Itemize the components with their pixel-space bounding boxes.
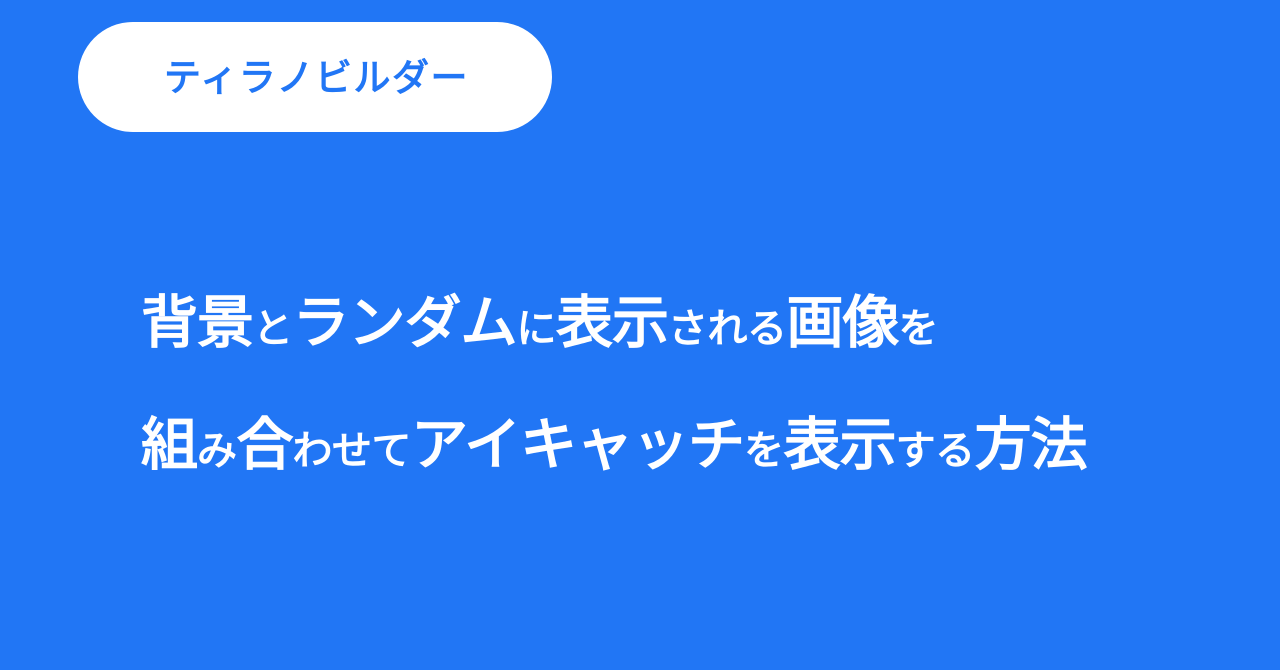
headline-segment: に (517, 306, 557, 352)
headline-segment: 表示 (556, 290, 668, 356)
headline-line-1: 背景とランダムに表示される画像を (141, 262, 1201, 384)
headline-segment: と (253, 306, 293, 352)
eyecatch-canvas: ティラノビルダー 背景とランダムに表示される画像を 組み合わせてアイキャッチを表… (0, 0, 1280, 670)
category-badge: ティラノビルダー (78, 22, 552, 132)
headline-line-2: 組み合わせてアイキャッチを表示する方法 (141, 384, 1201, 506)
headline-segment: される (668, 306, 787, 352)
category-badge-label: ティラノビルダー (164, 58, 469, 96)
headline: 背景とランダムに表示される画像を 組み合わせてアイキャッチを表示する方法 (141, 262, 1201, 506)
headline-segment: アイキャッチ (411, 412, 744, 478)
headline-segment: 表示 (784, 412, 896, 478)
headline-segment: ランダム (293, 290, 517, 356)
headline-segment: を (899, 306, 939, 352)
headline-segment: する (896, 428, 975, 474)
headline-segment: わせて (293, 428, 412, 474)
headline-segment: 背景 (141, 290, 253, 356)
headline-segment: を (744, 428, 784, 474)
headline-segment: み (197, 428, 237, 474)
headline-segment: 画像 (787, 290, 899, 356)
headline-segment: 組 (141, 412, 197, 478)
headline-segment: 合 (237, 412, 293, 478)
headline-segment: 方法 (975, 412, 1087, 478)
